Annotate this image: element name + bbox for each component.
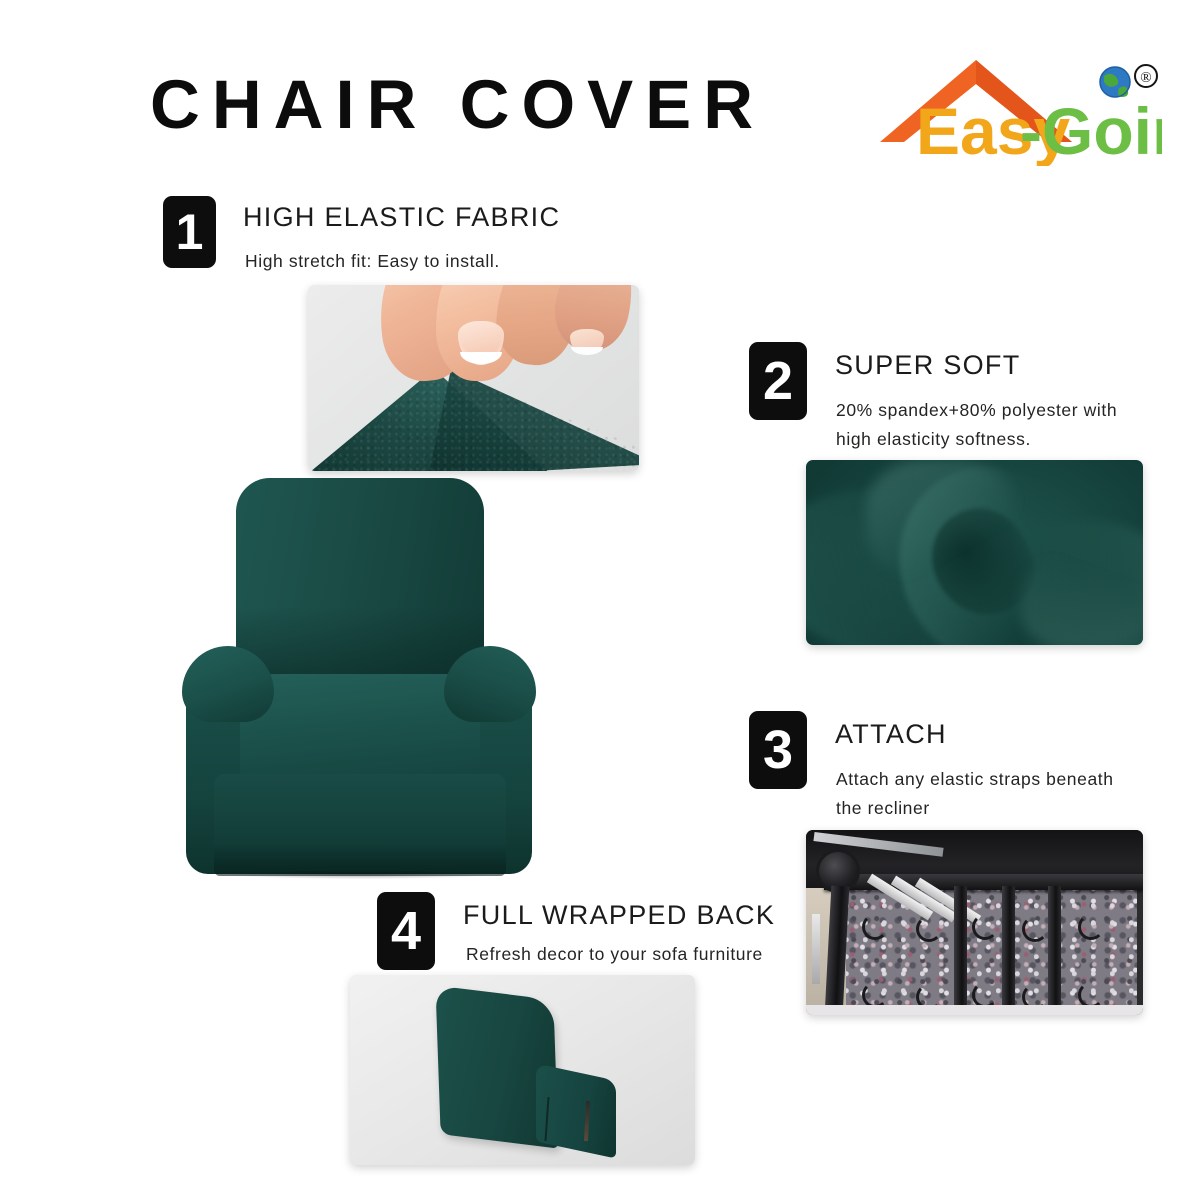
fingernail-shape [458, 321, 504, 365]
metal-bar [812, 914, 820, 984]
section-2-subtitle-line-1: 20% spandex+80% polyester with [836, 396, 1117, 425]
frame-leg [1048, 886, 1061, 1015]
section-3-subtitle-line-2: the recliner [836, 794, 930, 823]
recliner-front-illustration [178, 478, 542, 878]
logo-text-going: -Going [1020, 94, 1162, 166]
registered-trademark-icon: ® [1135, 65, 1157, 87]
pinch-fabric-photo [308, 285, 639, 471]
fingernail-shape [570, 329, 604, 355]
section-4-heading: FULL WRAPPED BACK [463, 900, 775, 931]
spring-coil [1078, 914, 1104, 940]
page-title: CHAIR COVER [150, 70, 765, 139]
section-1-heading: HIGH ELASTIC FABRIC [243, 202, 560, 233]
section-1-number-badge: 1 [163, 196, 216, 268]
fabric-highlight [866, 460, 1016, 580]
infographic-page: CHAIR COVER Easy -Going ® [0, 0, 1200, 1200]
section-4-number-badge: 4 [377, 892, 435, 970]
fabric-swirl-photo [806, 460, 1143, 645]
recliner-underside-photo [806, 830, 1143, 1015]
chair-armrest-right [444, 646, 536, 722]
spring-coil [972, 914, 998, 940]
section-3-subtitle-line-1: Attach any elastic straps beneath [836, 765, 1114, 794]
backrest-shadow [236, 606, 484, 678]
section-2-heading: SUPER SOFT [835, 350, 1021, 381]
fabric-highlight [1021, 555, 1143, 645]
pivot-hub-icon [819, 852, 857, 890]
globe-icon [1100, 67, 1130, 97]
frame-leg [1002, 886, 1015, 1015]
floor-shadow [226, 870, 494, 879]
chair-back-photo [350, 975, 695, 1165]
spring-coil [1022, 916, 1048, 942]
svg-text:®: ® [1140, 70, 1151, 86]
section-2-number-badge: 2 [749, 342, 807, 420]
section-2-subtitle-line-2: high elasticity softness. [836, 425, 1031, 454]
spring-coil [916, 916, 942, 942]
section-3-heading: ATTACH [835, 719, 947, 750]
spring-coil [862, 914, 888, 940]
easy-going-logo: Easy -Going ® [872, 46, 1162, 166]
section-4-subtitle: Refresh decor to your sofa furniture [466, 940, 763, 969]
photo-bottom-edge [806, 1005, 1143, 1015]
section-1-subtitle: High stretch fit: Easy to install. [245, 247, 500, 276]
frame-leg [954, 886, 967, 1015]
section-3-number-badge: 3 [749, 711, 807, 789]
